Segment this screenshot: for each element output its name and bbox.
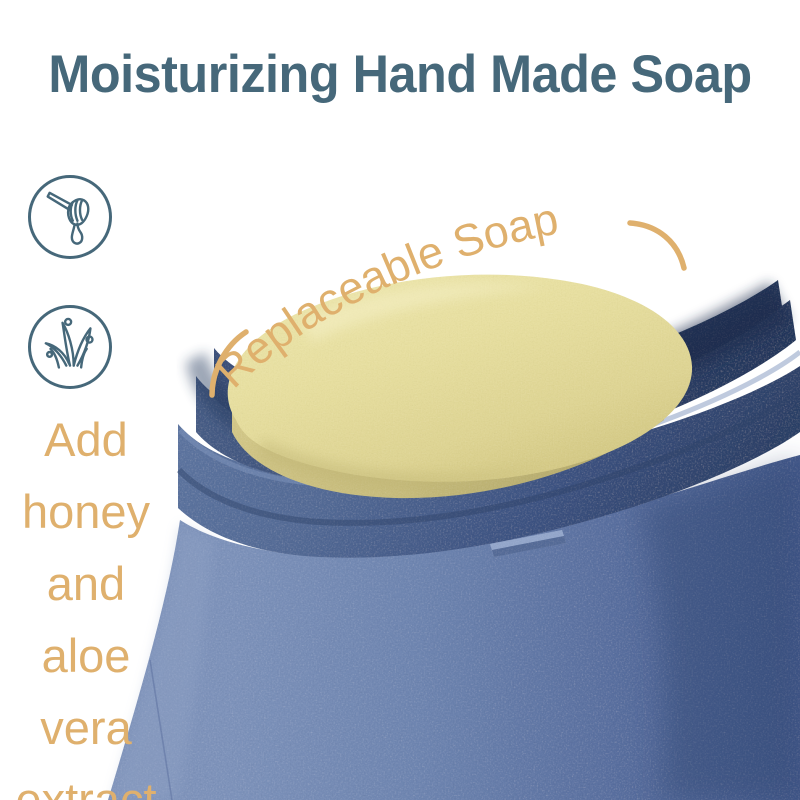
body-shadow-right: [640, 458, 800, 800]
copy-line: Add: [0, 404, 172, 476]
copy-line: and: [0, 548, 172, 620]
copy-line: honey: [0, 476, 172, 548]
copy-line: aloe: [0, 620, 172, 692]
product-marketing-image: Moisturizing Hand Made Soap: [0, 0, 800, 800]
copy-line: extract: [0, 764, 172, 800]
feature-copy: Add honey and aloe vera extract: [0, 404, 172, 800]
copy-line: vera: [0, 692, 172, 764]
